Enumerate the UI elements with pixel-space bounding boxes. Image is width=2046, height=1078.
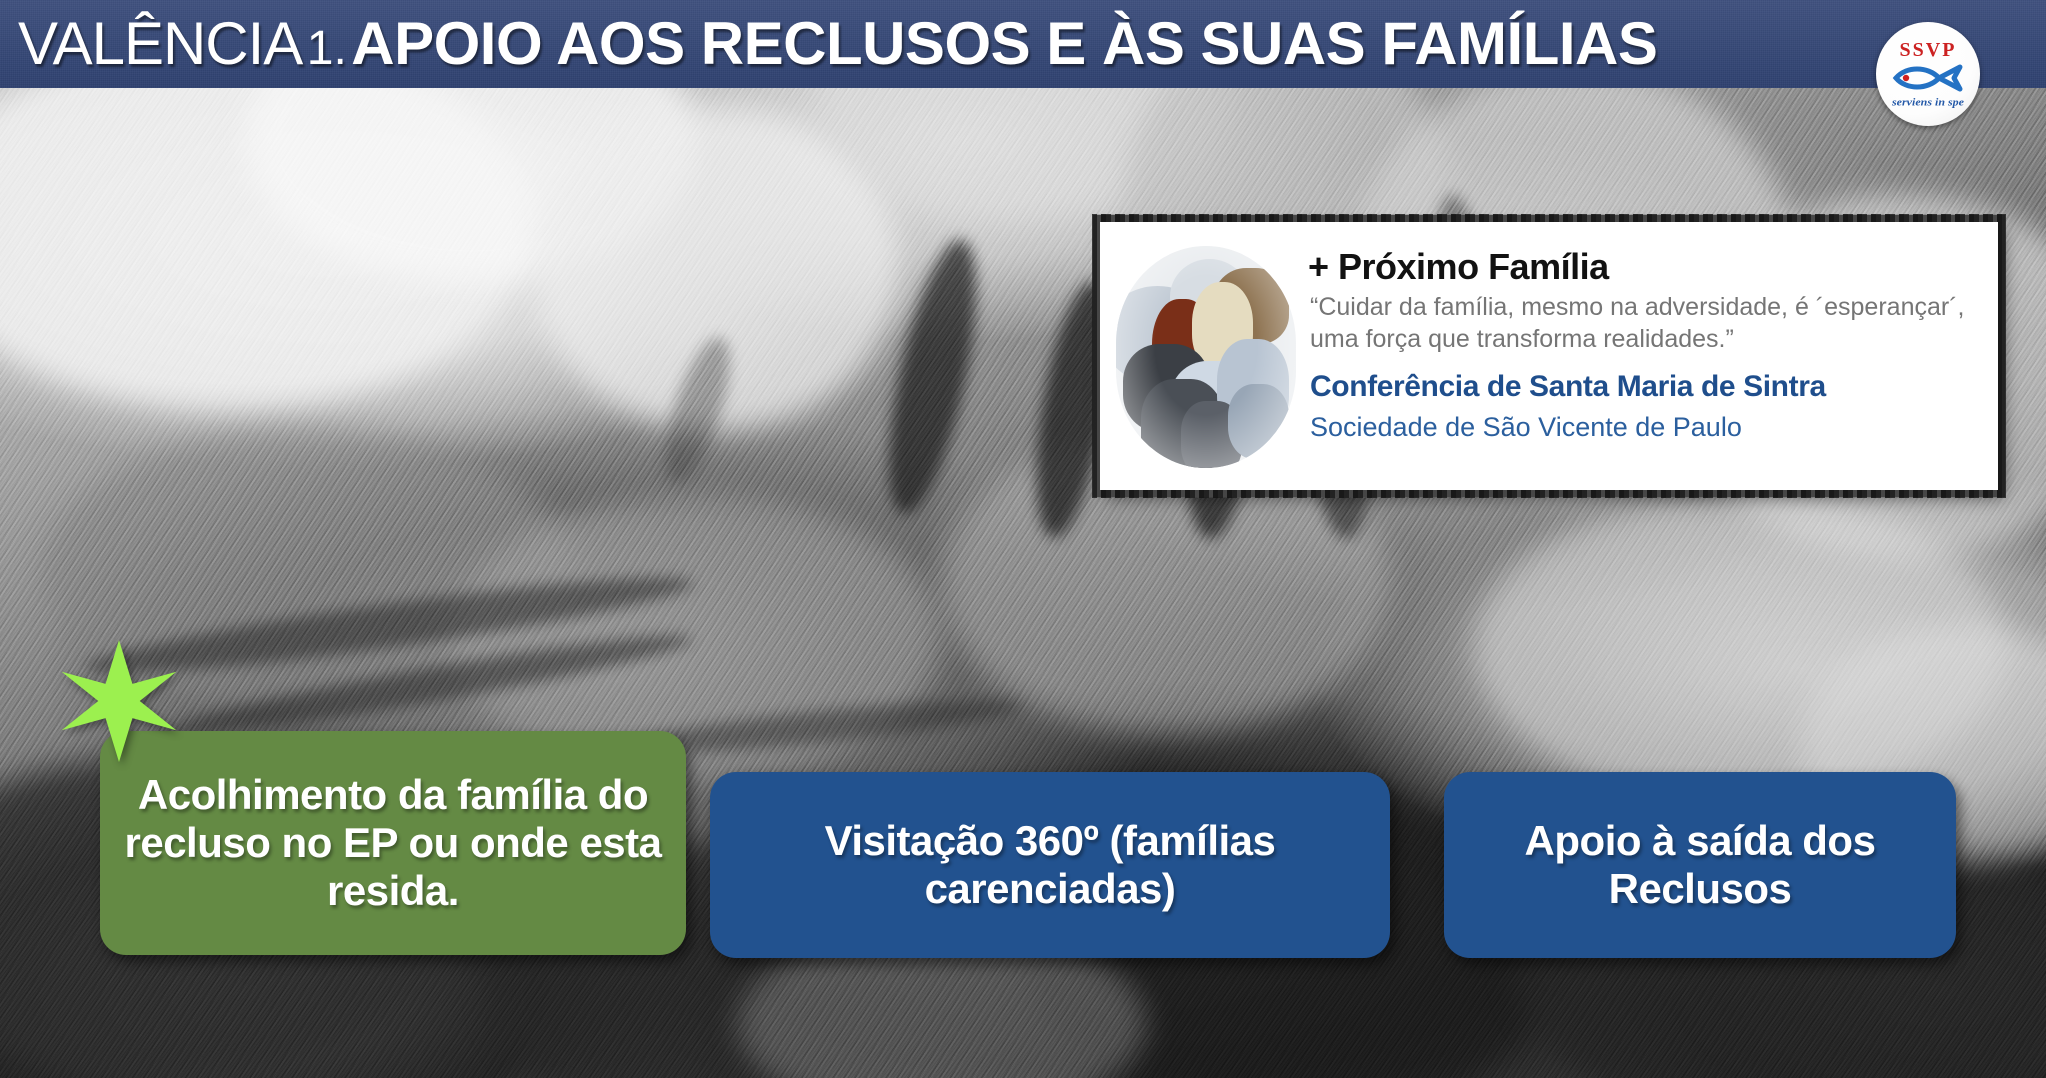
ssvp-motto: serviens in spe <box>1892 96 1964 109</box>
fish-icon <box>1892 63 1964 93</box>
title-number: 1. <box>307 22 347 75</box>
callout-label: Visitação 360º (famílias carenciadas) <box>728 817 1372 913</box>
six-point-star-icon <box>58 638 180 764</box>
card-subtitle: Sociedade de São Vicente de Paulo <box>1310 412 1742 443</box>
card-title: + Próximo Família <box>1308 246 1609 288</box>
callout-apoio-saida[interactable]: Apoio à saída dos Reclusos <box>1444 772 1956 958</box>
callout-acolhimento[interactable]: Acolhimento da família do recluso no EP … <box>100 731 686 955</box>
ssvp-logo-header: SSVP serviens in spe <box>1876 22 1980 126</box>
title-main-text: APOIO AOS RECLUSOS E ÀS SUAS FAMÍLIAS <box>351 10 1657 77</box>
info-card: SSVP serviens in spe + Próximo Família “… <box>1100 222 1998 490</box>
card-quote: “Cuidar da família, mesmo na adversidade… <box>1310 292 1978 355</box>
ssvp-wordmark: SSVP <box>1900 39 1957 62</box>
callout-label: Acolhimento da família do recluso no EP … <box>118 771 668 915</box>
card-organization: Conferência de Santa Maria de Sintra <box>1310 370 1826 404</box>
presentation-slide: VALÊNCIA 1. APOIO AOS RECLUSOS E ÀS SUAS… <box>0 0 2046 1078</box>
page-title: VALÊNCIA 1. APOIO AOS RECLUSOS E ÀS SUAS… <box>0 14 1657 74</box>
slide-title-bar: VALÊNCIA 1. APOIO AOS RECLUSOS E ÀS SUAS… <box>0 0 2046 88</box>
title-valencia-label: VALÊNCIA <box>18 10 302 77</box>
callout-label: Apoio à saída dos Reclusos <box>1462 817 1938 913</box>
family-hug-photo <box>1116 246 1296 468</box>
callout-visitacao[interactable]: Visitação 360º (famílias carenciadas) <box>710 772 1390 958</box>
